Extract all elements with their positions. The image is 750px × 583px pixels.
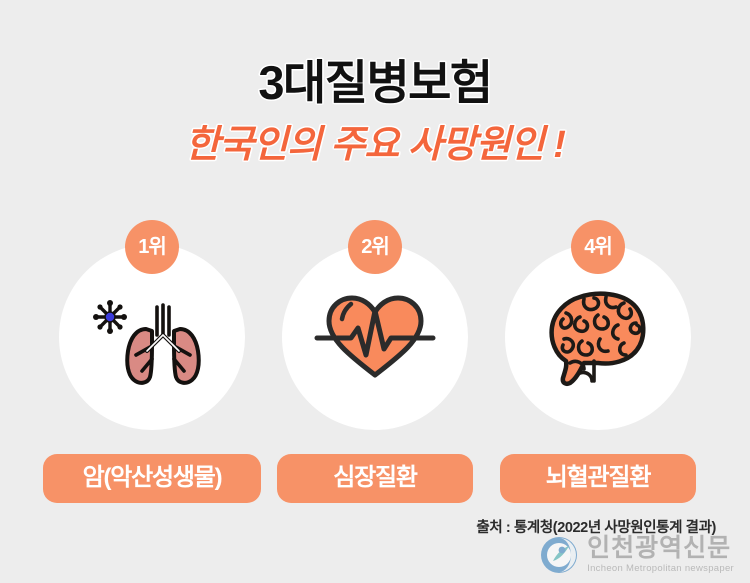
rank-badge-label: 2위	[361, 237, 389, 257]
rank-badge: 1위	[125, 220, 179, 274]
headline-block: 3대질병보험 한국인의 주요 사망원인 !	[0, 58, 750, 167]
cause-label-pill: 심장질환	[277, 454, 473, 503]
circular-globe-logo-icon	[539, 535, 579, 575]
watermark-english: Incheon Metropolitan newspaper	[587, 564, 734, 574]
page-title: 3대질병보험	[0, 58, 750, 109]
rank-badge: 2위	[348, 220, 402, 274]
watermark: 인천광역신문 Incheon Metropolitan newspaper	[539, 535, 734, 575]
icon-disc: 2위	[282, 244, 468, 430]
cause-label-text: 암(악산성생물)	[83, 464, 222, 491]
icon-disc: 1위	[59, 244, 245, 430]
rank-badge-label: 4위	[584, 237, 612, 257]
watermark-korean: 인천광역신문	[587, 536, 734, 561]
icon-disc: 4위	[505, 244, 691, 430]
cause-label-pill: 암(악산성생물)	[43, 454, 261, 503]
cause-card-heart: 2위 심장질환	[280, 222, 470, 503]
watermark-text: 인천광역신문 Incheon Metropolitan newspaper	[587, 536, 734, 574]
cause-card-brain: 4위	[503, 222, 693, 503]
cause-label-pill: 뇌혈관질환	[500, 454, 696, 503]
brain-icon	[533, 282, 663, 392]
cause-label-text: 뇌혈관질환	[546, 464, 650, 491]
lungs-icon	[87, 282, 217, 392]
cause-label-text: 심장질환	[333, 464, 417, 491]
rank-badge-label: 1위	[138, 237, 166, 257]
page-subtitle: 한국인의 주요 사망원인 !	[0, 125, 750, 167]
cause-of-death-card-list: 1위	[0, 222, 750, 503]
infographic-poster: 3대질병보험 한국인의 주요 사망원인 ! 1위	[0, 0, 750, 583]
cause-card-cancer: 1위	[57, 222, 247, 503]
rank-badge: 4위	[571, 220, 625, 274]
heart-pulse-icon	[310, 282, 440, 392]
